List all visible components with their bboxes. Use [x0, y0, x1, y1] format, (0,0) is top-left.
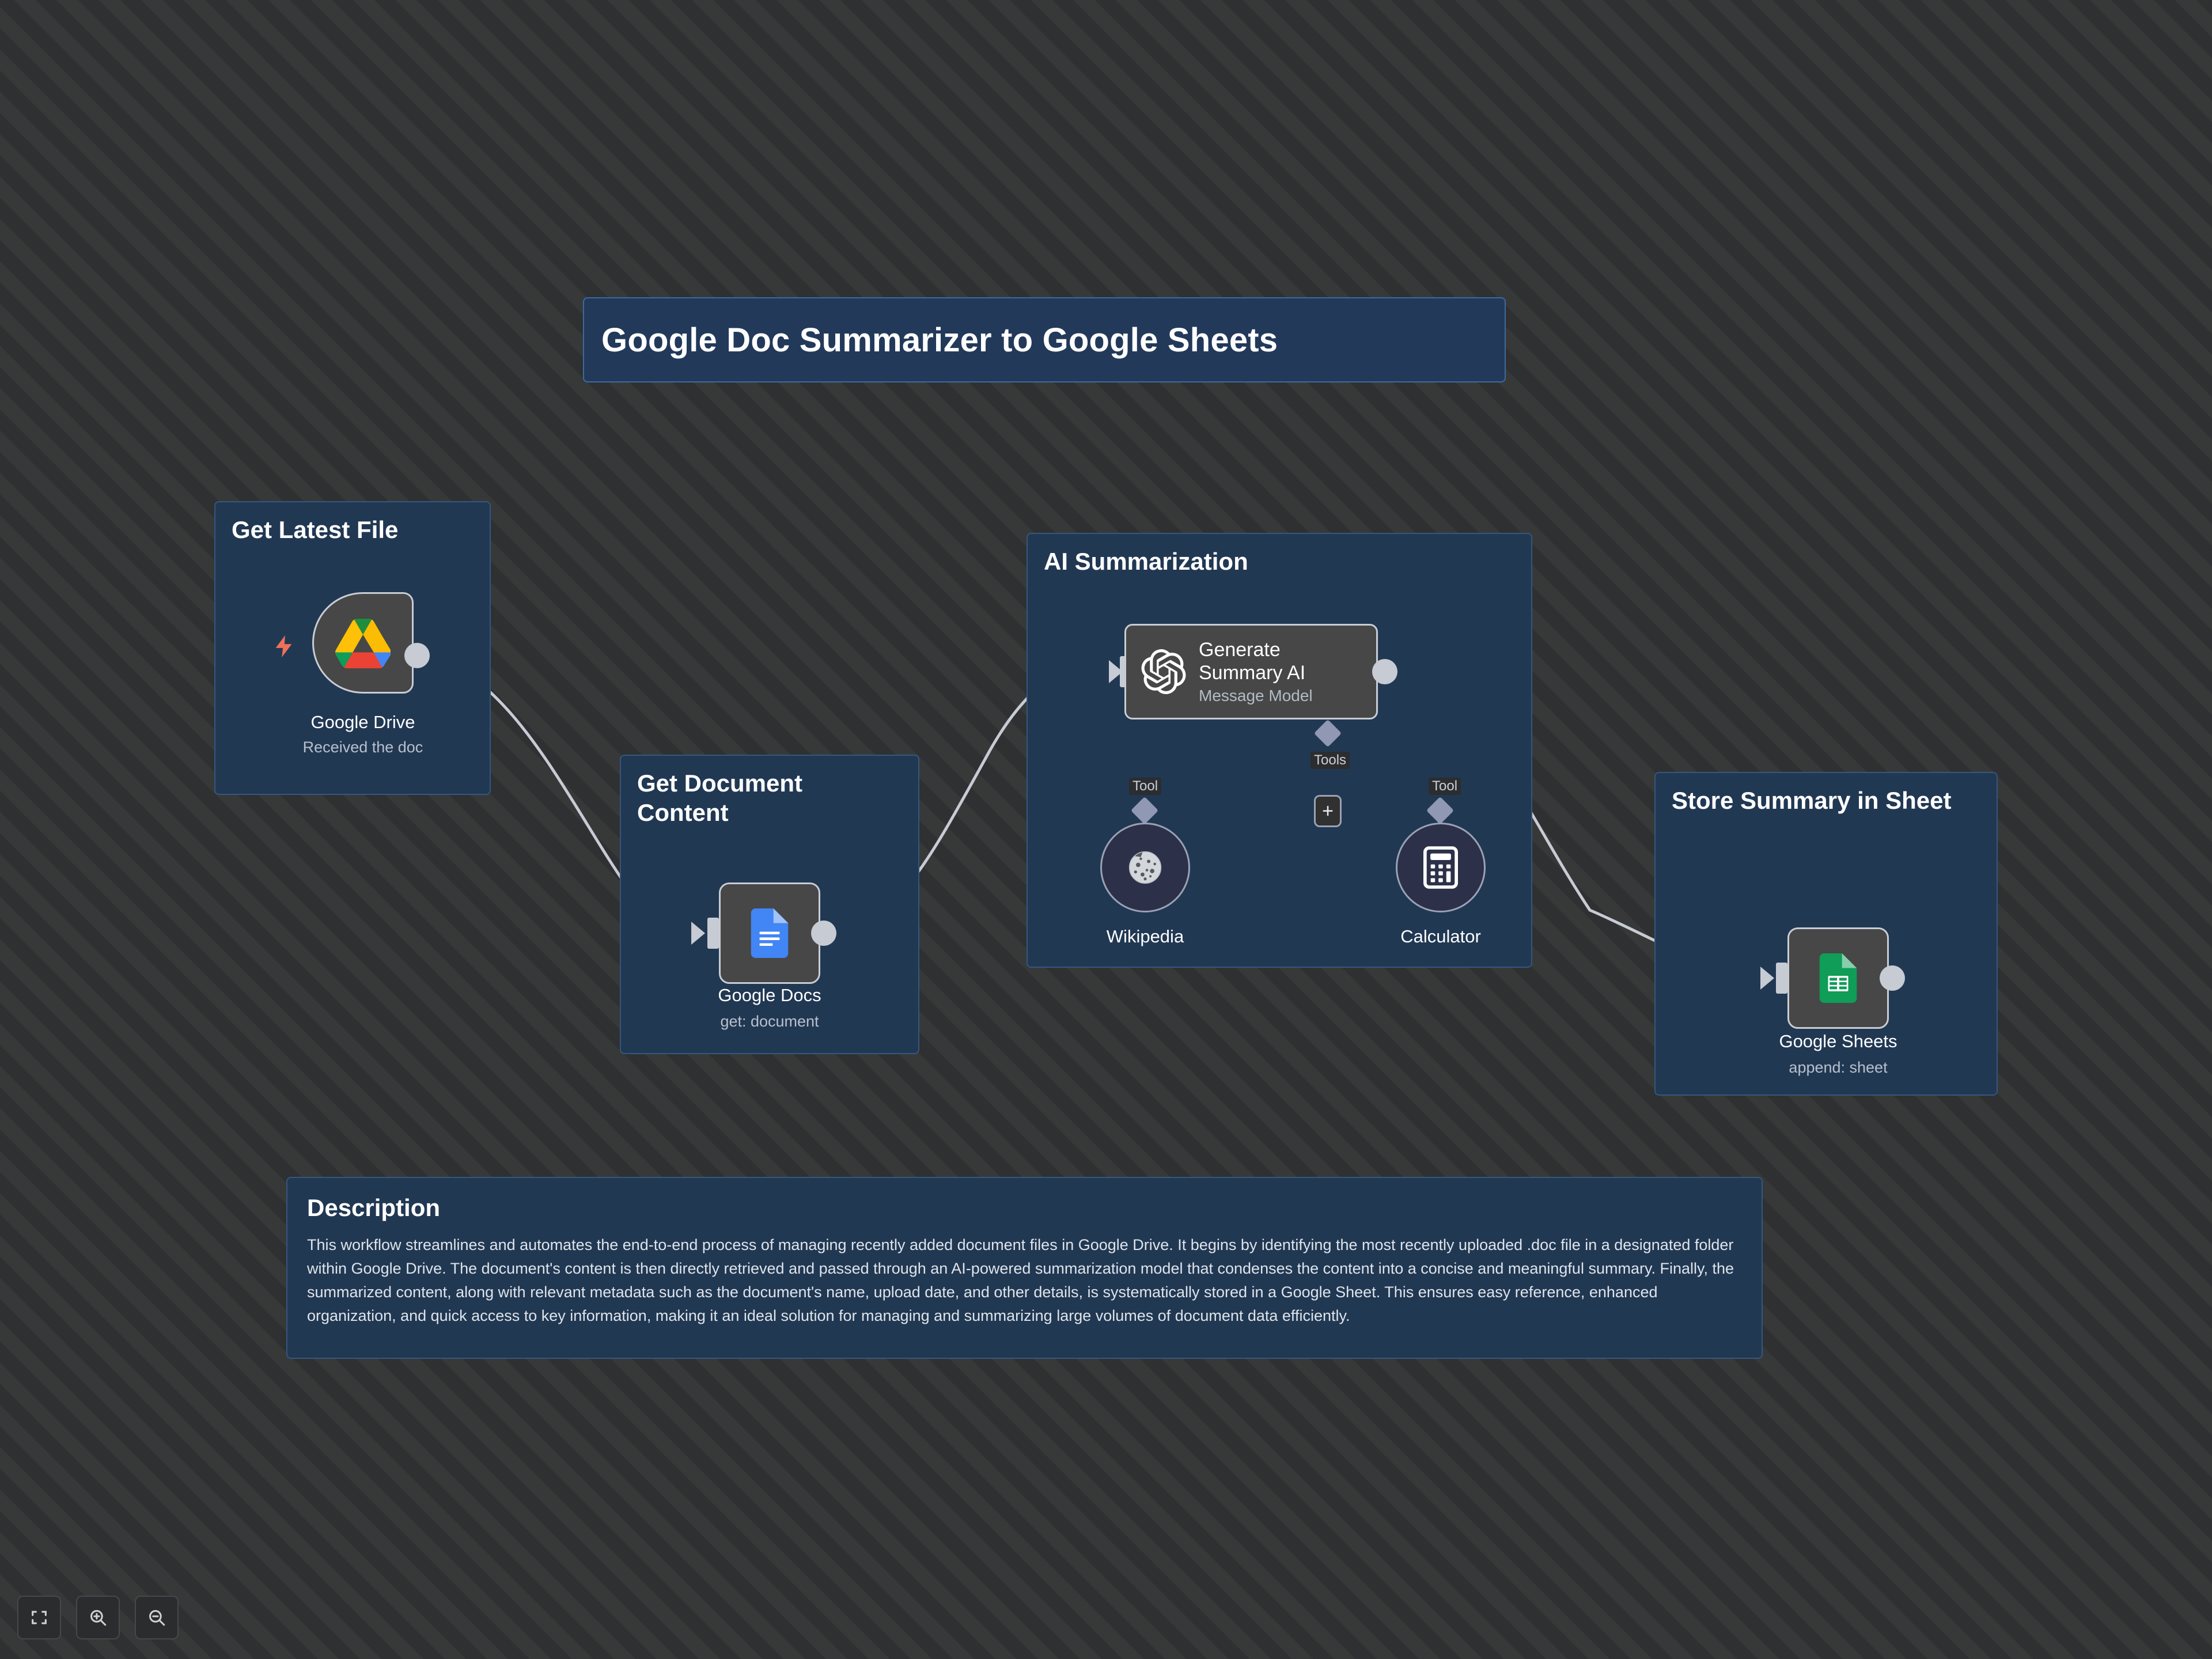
port-out-generate-summary-ai[interactable] [1372, 659, 1397, 684]
edge-arrow-into-google-sheets [1760, 967, 1774, 990]
group-title-ai-summarization: AI Summarization [1044, 547, 1248, 576]
openai-icon [1141, 649, 1186, 694]
description-body: This workflow streamlines and automates … [307, 1233, 1742, 1328]
node-generate-summary-ai[interactable]: Generate Summary AI Message Model [1124, 624, 1378, 719]
node-google-docs[interactable] [719, 882, 820, 984]
description-panel: Description This workflow streamlines an… [286, 1177, 1763, 1359]
group-title-get-document-content: Get Document Content [637, 768, 802, 827]
calculator-icon [1422, 846, 1460, 889]
wikipedia-icon [1123, 846, 1167, 889]
zoom-out-icon [147, 1608, 166, 1627]
node-calculator[interactable] [1396, 823, 1486, 912]
description-heading: Description [307, 1194, 1742, 1222]
port-in-google-sheets[interactable] [1776, 963, 1787, 994]
node-google-sheets[interactable] [1787, 927, 1889, 1029]
edge-label-tool-calculator: Tool [1429, 778, 1461, 795]
node-label-calculator: Calculator [1314, 926, 1567, 947]
edge-label-tool-wikipedia: Tool [1129, 778, 1161, 795]
node-google-drive[interactable] [312, 592, 414, 694]
page-title: Google Doc Summarizer to Google Sheets [601, 321, 1278, 359]
node-sublabel-generate-summary-ai: Message Model [1199, 687, 1343, 705]
add-tool-button[interactable]: + [1314, 795, 1342, 827]
node-label-wikipedia: Wikipedia [1018, 926, 1272, 947]
google-drive-icon [335, 615, 391, 671]
node-sublabel-google-docs: get: document [643, 1013, 896, 1031]
edge-label-tools: Tools [1310, 752, 1350, 769]
trigger-bolt-icon [271, 631, 297, 667]
node-sublabel-google-sheets: append: sheet [1711, 1059, 1965, 1077]
zoom-in-icon [88, 1608, 108, 1627]
zoom-out-button[interactable] [135, 1596, 179, 1639]
google-docs-icon [745, 908, 794, 958]
node-label-google-drive: Google Drive [236, 712, 490, 733]
port-out-google-drive[interactable] [404, 643, 430, 668]
port-in-google-docs[interactable] [707, 918, 719, 949]
node-label-google-docs: Google Docs [643, 985, 896, 1006]
port-out-google-sheets[interactable] [1880, 965, 1905, 991]
fit-view-button[interactable] [17, 1596, 61, 1639]
workflow-canvas[interactable]: Google Doc Summarizer to Google Sheets G… [0, 0, 2212, 1659]
node-label-google-sheets: Google Sheets [1711, 1031, 1965, 1052]
node-label-generate-summary-ai: Generate Summary AI [1199, 638, 1343, 684]
zoom-in-button[interactable] [76, 1596, 120, 1639]
group-title-get-latest-file: Get Latest File [232, 515, 398, 544]
group-title-store-summary-in-sheet: Store Summary in Sheet [1672, 786, 1951, 815]
node-wikipedia[interactable] [1100, 823, 1190, 912]
node-sublabel-google-drive: Received the doc [236, 738, 490, 756]
port-out-google-docs[interactable] [811, 921, 836, 946]
edge-arrow-into-google-docs [691, 922, 705, 945]
google-sheets-icon [1813, 953, 1863, 1003]
workflow-title-banner: Google Doc Summarizer to Google Sheets [583, 297, 1506, 382]
fit-screen-icon [29, 1608, 49, 1627]
canvas-toolbar [17, 1596, 179, 1639]
